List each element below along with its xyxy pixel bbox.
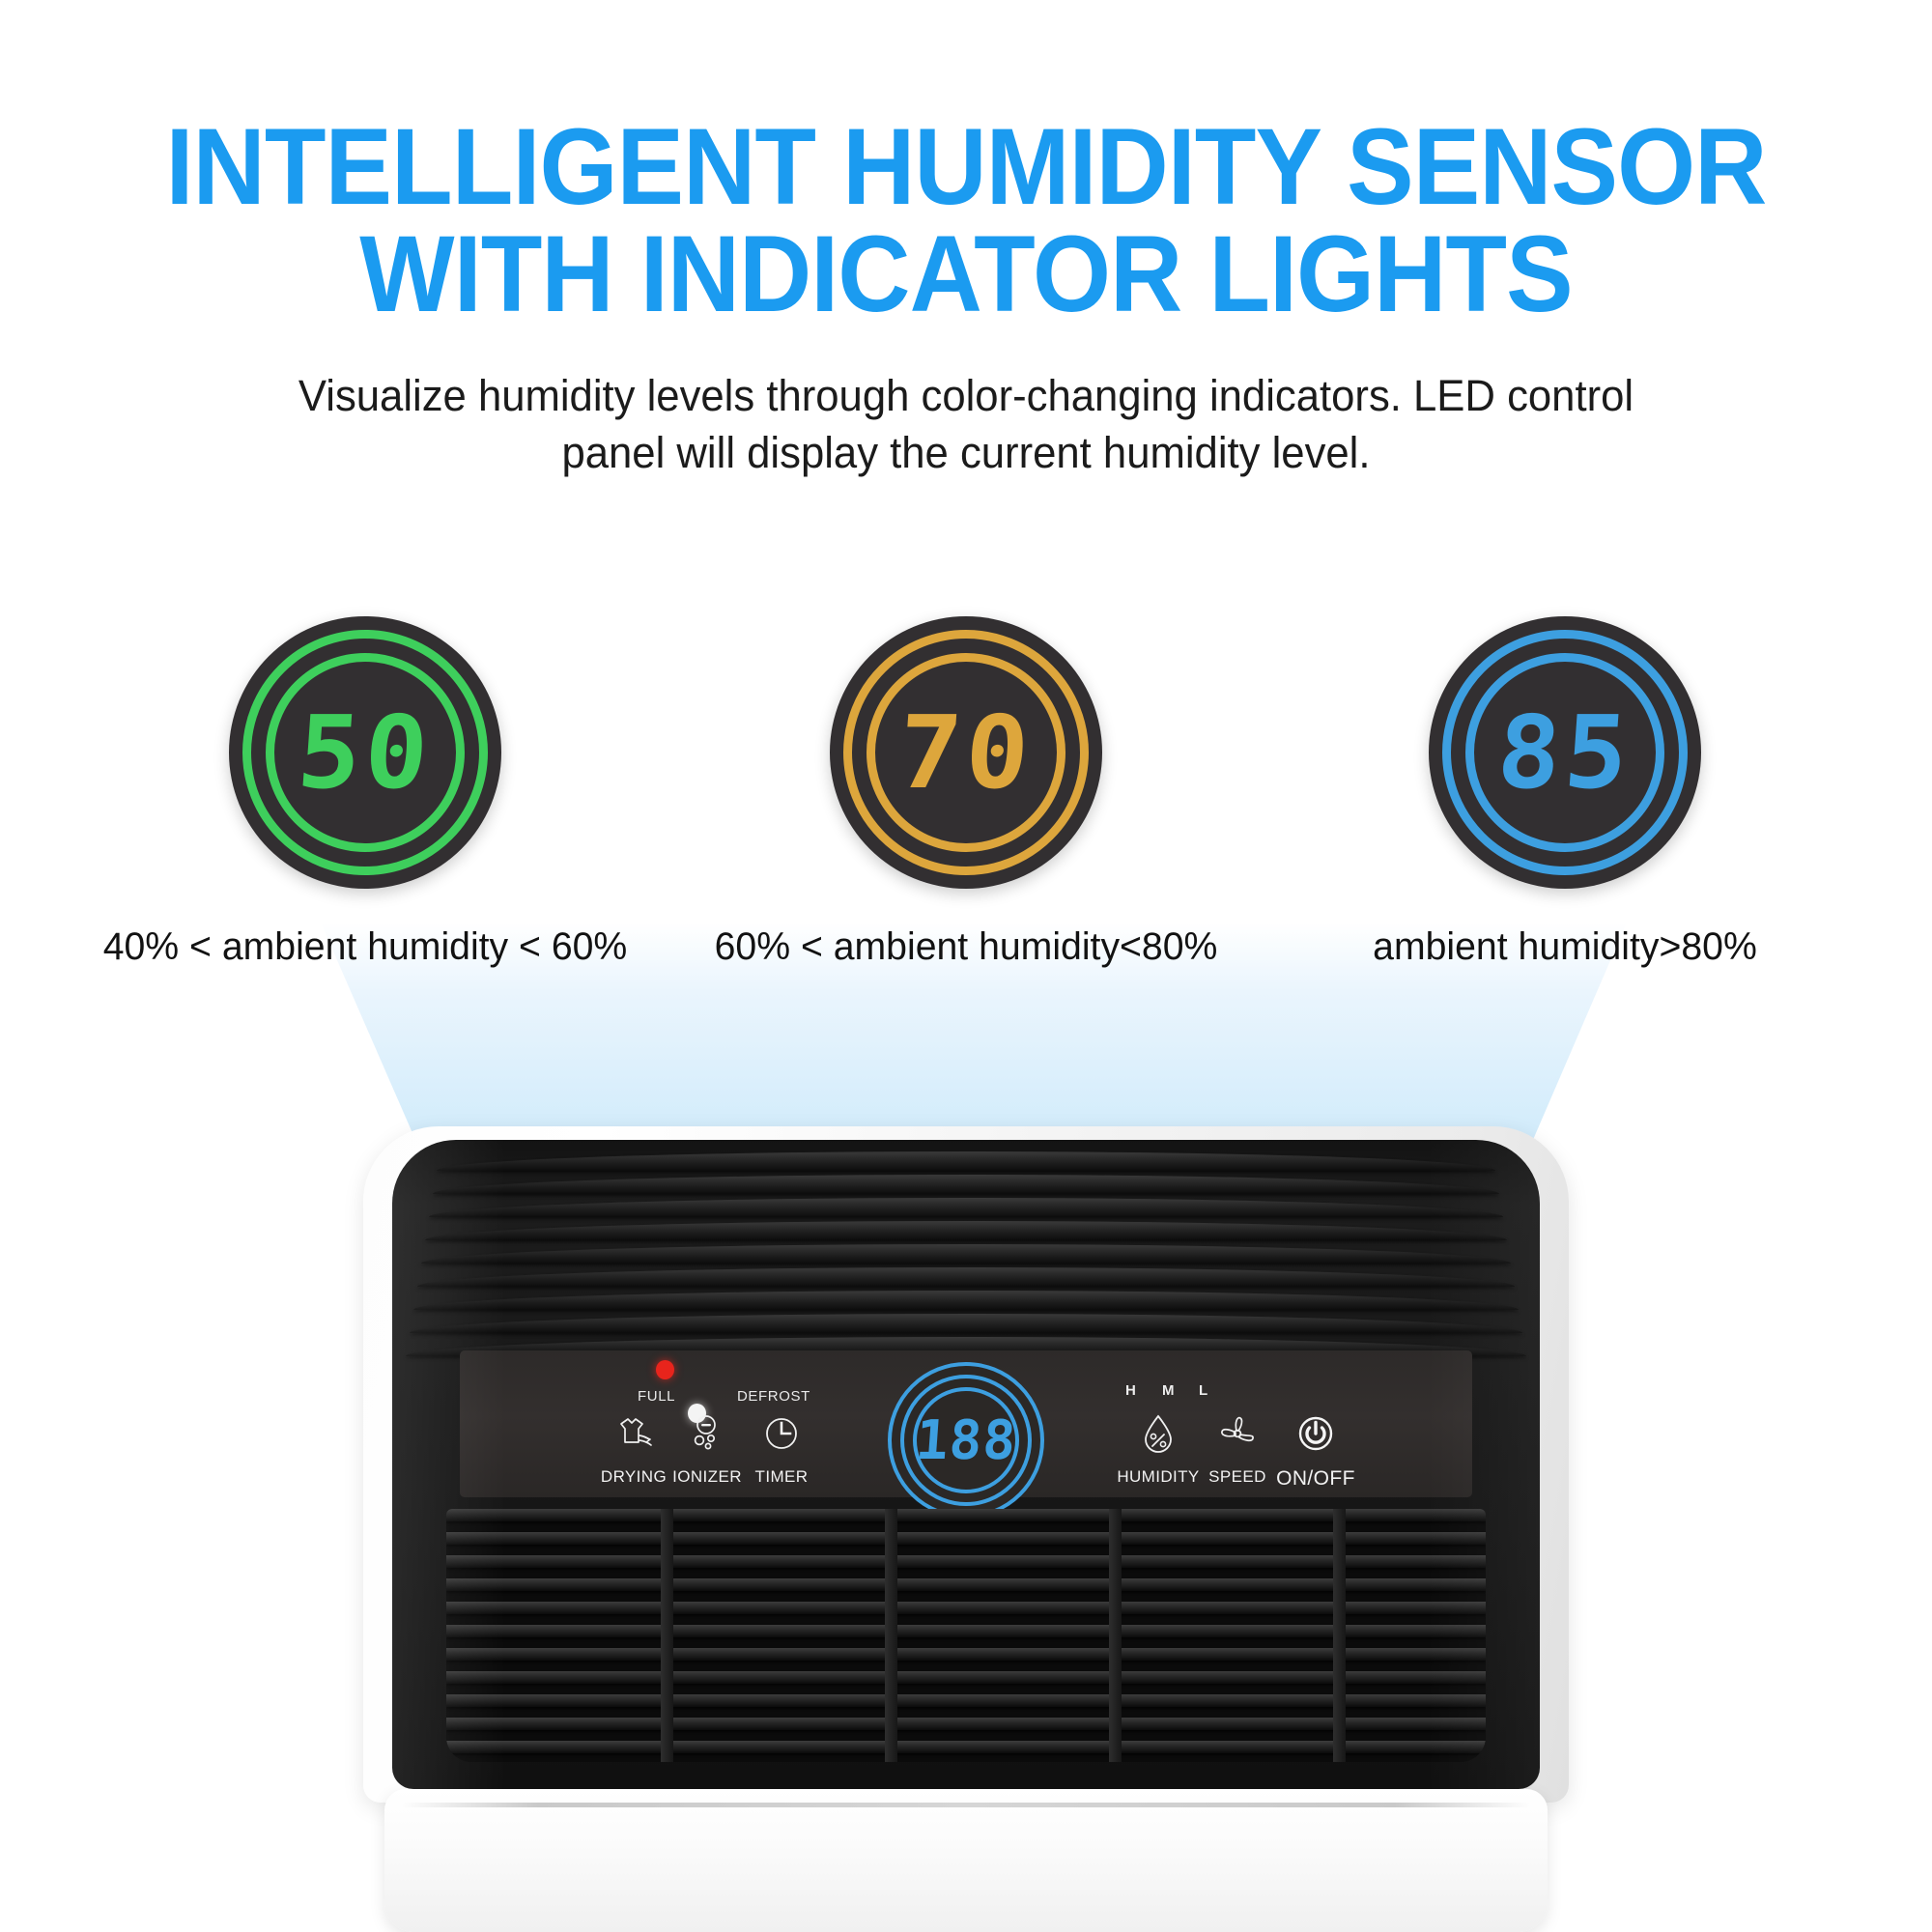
dial-value-amber: 70 [895, 702, 1037, 803]
humidity-led-display: 188 [888, 1362, 1044, 1519]
defrost-label: DEFROST [737, 1388, 810, 1405]
top-louver [429, 1198, 1503, 1217]
humidity-dial-blue: 85 [1429, 616, 1701, 889]
dial-value-green: 50 [295, 702, 436, 803]
top-louver [433, 1175, 1499, 1194]
top-louver [417, 1267, 1515, 1287]
indicator-caption-blue: ambient humidity>80% [1262, 925, 1867, 969]
grille-louver [446, 1532, 1486, 1545]
grille-divider [885, 1509, 897, 1762]
fan-speed-medium-label: M [1162, 1382, 1175, 1399]
indicator-group-green: 50 40% < ambient humidity < 60% [56, 616, 674, 969]
dial-value-blue: 85 [1494, 702, 1635, 803]
top-louver [413, 1291, 1519, 1310]
page-title-line-1: INTELLIGENT HUMIDITY SENSOR [68, 114, 1864, 221]
subtitle-line-1: Visualize humidity levels through color-… [29, 367, 1903, 424]
page-title-line-2: WITH INDICATOR LIGHTS [68, 221, 1864, 328]
grille-divider [661, 1509, 673, 1762]
header-block: INTELLIGENT HUMIDITY SENSOR WITH INDICAT… [0, 0, 1932, 482]
clock-timer-icon [724, 1408, 839, 1459]
power-icon [1258, 1408, 1374, 1459]
grille-divider [1109, 1509, 1122, 1762]
air-outlet-grille [446, 1509, 1486, 1762]
top-louver [437, 1151, 1495, 1171]
top-louver [425, 1221, 1507, 1240]
grille-louver [446, 1718, 1486, 1730]
timer-label: TIMER [724, 1467, 839, 1487]
full-indicator-led [656, 1360, 674, 1379]
tank-seam-line [402, 1803, 1530, 1807]
humidity-dial-green: 50 [229, 616, 501, 889]
page-subtitle: Visualize humidity levels through color-… [29, 367, 1903, 482]
top-louver [421, 1244, 1511, 1264]
water-tank-base [384, 1789, 1548, 1932]
fan-speed-high-label: H [1125, 1382, 1136, 1399]
grille-louver [446, 1555, 1486, 1568]
dehumidifier-unit: FULL DEFROST H M L DRYING [363, 1126, 1569, 1932]
top-louver [410, 1314, 1522, 1333]
top-vent-louvers [392, 1140, 1540, 1364]
power-button[interactable]: ON/OFF [1258, 1408, 1374, 1491]
grille-louver [446, 1509, 1486, 1521]
indicator-group-blue: 85 ambient humidity>80% [1256, 616, 1874, 969]
subtitle-line-2: panel will display the current humidity … [29, 424, 1903, 481]
grille-divider [1333, 1509, 1346, 1762]
grille-louver [446, 1648, 1486, 1661]
fan-speed-low-label: L [1199, 1382, 1207, 1399]
indicator-caption-green: 40% < ambient humidity < 60% [62, 925, 668, 969]
unit-front-face: FULL DEFROST H M L DRYING [392, 1140, 1540, 1789]
indicator-caption-amber: 60% < ambient humidity<80% [663, 925, 1268, 969]
grille-louver [446, 1625, 1486, 1637]
grille-louver [446, 1694, 1486, 1707]
control-panel: FULL DEFROST H M L DRYING [460, 1350, 1472, 1497]
grille-louver [446, 1602, 1486, 1614]
indicator-group-amber: 70 60% < ambient humidity<80% [657, 616, 1275, 969]
timer-button[interactable]: TIMER [724, 1408, 839, 1487]
grille-louver [446, 1578, 1486, 1591]
display-value: 188 [914, 1409, 1019, 1472]
humidity-dial-amber: 70 [830, 616, 1102, 889]
onoff-label: ON/OFF [1258, 1467, 1374, 1491]
grille-louver [446, 1671, 1486, 1684]
grille-louver [446, 1741, 1486, 1753]
full-label: FULL [638, 1388, 675, 1405]
